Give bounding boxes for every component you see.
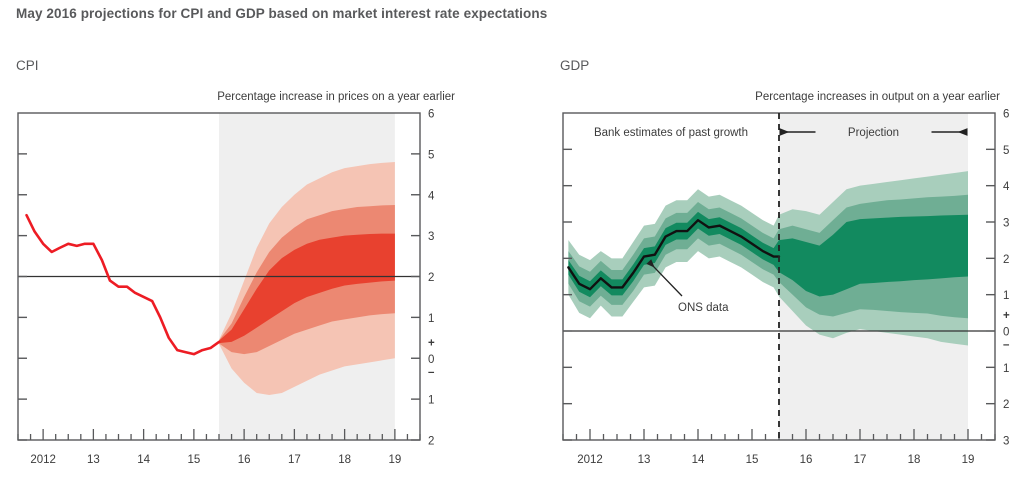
y-tick-label: 6 — [1003, 109, 1009, 121]
x-tick-label: 16 — [238, 454, 251, 466]
y-axis-minus-sign: – — [1003, 339, 1010, 351]
y-axis-plus-sign: + — [1003, 310, 1010, 322]
x-tick-label: 13 — [87, 454, 100, 466]
x-tick-label: 14 — [137, 454, 150, 466]
y-tick-label: 1 — [428, 395, 434, 407]
gdp-panel: GDP Percentage increases in output on a … — [512, 0, 1024, 479]
y-tick-label: 3 — [428, 231, 434, 243]
y-tick-label: 1 — [1003, 290, 1009, 302]
annotation-projection: Projection — [848, 127, 899, 139]
x-tick-label: 19 — [962, 454, 975, 466]
gdp-chart-svg: 6543210123+–201213141516171819Bank estim… — [512, 0, 1024, 479]
y-axis-plus-sign: + — [428, 337, 435, 349]
y-tick-label: 5 — [1003, 145, 1009, 157]
x-tick-label: 18 — [338, 454, 351, 466]
annotation-ons-data: ONS data — [678, 302, 729, 314]
y-tick-label: 3 — [1003, 218, 1009, 230]
cpi-chart-svg: 654321012+–201213141516171819 — [0, 0, 512, 479]
y-tick-label: 2 — [428, 436, 434, 448]
y-tick-label: 4 — [428, 190, 435, 202]
series-line-0 — [27, 215, 219, 354]
x-tick-label: 19 — [388, 454, 401, 466]
fan-chart-figure: May 2016 projections for CPI and GDP bas… — [0, 0, 1024, 479]
y-tick-label: 2 — [1003, 254, 1009, 266]
y-axis-minus-sign: – — [428, 366, 435, 378]
x-tick-label: 2012 — [577, 454, 603, 466]
cpi-panel: CPI Percentage increase in prices on a y… — [0, 0, 512, 479]
y-tick-label: 1 — [428, 313, 434, 325]
y-tick-label: 5 — [428, 149, 434, 161]
y-tick-label: 0 — [428, 354, 434, 366]
x-tick-label: 18 — [908, 454, 921, 466]
x-tick-label: 13 — [638, 454, 651, 466]
y-tick-label: 6 — [428, 109, 434, 121]
y-tick-label: 4 — [1003, 181, 1010, 193]
y-tick-label: 0 — [1003, 327, 1009, 339]
y-tick-label: 2 — [428, 272, 434, 284]
x-tick-label: 2012 — [30, 454, 56, 466]
annotation-past-growth: Bank estimates of past growth — [594, 127, 748, 139]
y-tick-label: 1 — [1003, 363, 1009, 375]
x-tick-label: 17 — [288, 454, 301, 466]
x-tick-label: 16 — [800, 454, 813, 466]
x-tick-label: 17 — [854, 454, 867, 466]
y-tick-label: 2 — [1003, 399, 1009, 411]
x-tick-label: 15 — [746, 454, 759, 466]
y-tick-label: 3 — [1003, 436, 1009, 448]
x-tick-label: 14 — [692, 454, 705, 466]
x-tick-label: 15 — [187, 454, 200, 466]
